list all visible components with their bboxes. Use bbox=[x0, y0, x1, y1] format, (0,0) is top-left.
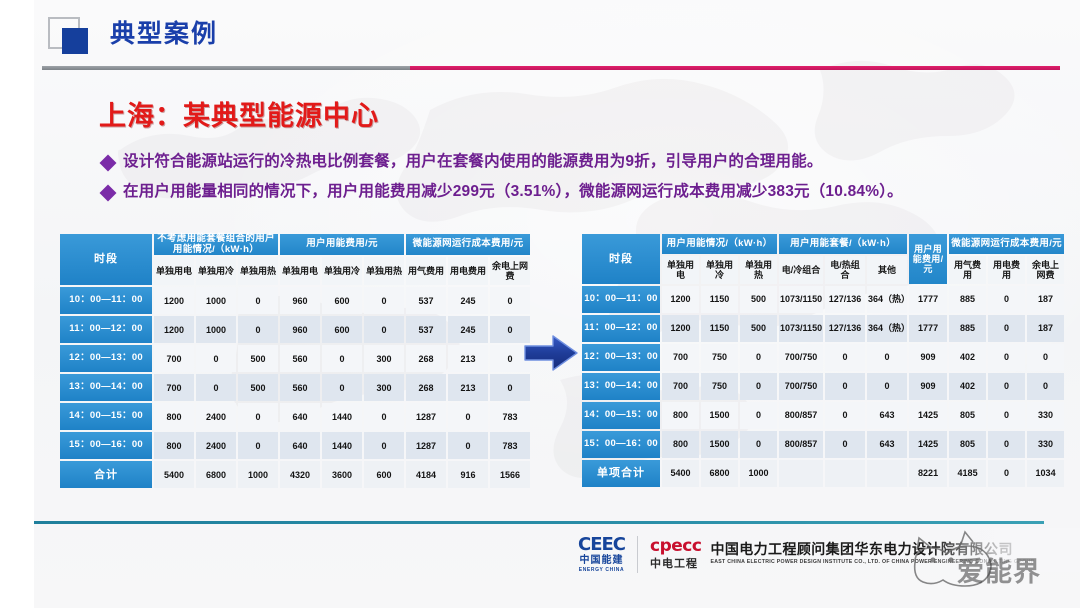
cell-value: 268 bbox=[406, 374, 446, 401]
cell-value: 1500 bbox=[701, 431, 738, 458]
cell-value: 0 bbox=[867, 344, 907, 371]
cell-value: 960 bbox=[280, 316, 320, 343]
table-header-row-group: 时段 用户用能情况/（kW·h） 用户用能套餐/（kW·h） 用户用能费用/元 … bbox=[582, 234, 1064, 254]
col-sub-6: 用气费用 bbox=[949, 256, 986, 284]
ceec-chinese-name: 中国能建 bbox=[580, 556, 624, 566]
cell-value: 0 bbox=[322, 345, 362, 372]
cell-value: 2400 bbox=[196, 432, 236, 459]
cell-value: 0 bbox=[988, 315, 1025, 342]
cell-period: 11：00—12：00 bbox=[582, 315, 660, 342]
table-row: 14：00—15：00800240006401440012870783 bbox=[60, 403, 530, 430]
cell-value: 1000 bbox=[196, 287, 236, 314]
cell-value: 245 bbox=[448, 316, 488, 343]
cell-value: 800 bbox=[154, 403, 194, 430]
cell-total-value: 6800 bbox=[701, 460, 738, 487]
section-subtitle: 上海：某典型能源中心 bbox=[99, 94, 379, 133]
cell-value: 1000 bbox=[196, 316, 236, 343]
header-rule-pink-segment bbox=[410, 66, 1060, 70]
cell-value: 0 bbox=[238, 316, 278, 343]
cell-total-value: 1566 bbox=[490, 461, 530, 488]
table-row: 11：00—12：00120011505001073/1150127/13636… bbox=[582, 315, 1064, 342]
cell-value: 0 bbox=[364, 432, 404, 459]
cell-period: 10：00—11：00 bbox=[582, 286, 660, 313]
col-group-package: 用户用能套餐/（kW·h） bbox=[779, 234, 907, 254]
cell-value: 909 bbox=[909, 373, 947, 400]
cell-value: 364（热） bbox=[867, 286, 907, 313]
slide-header: 典型案例 bbox=[44, 16, 218, 56]
cell-value: 0 bbox=[740, 373, 777, 400]
cell-value: 0 bbox=[448, 432, 488, 459]
cell-value: 885 bbox=[949, 286, 986, 313]
col-sub-3: 电/冷组合 bbox=[779, 256, 823, 284]
cell-value: 1200 bbox=[154, 287, 194, 314]
footer-logos: CEEC 中国能建 ENERGY CHINA cpecc 中电工程 中国电力工程… bbox=[578, 531, 1034, 577]
cell-value: 402 bbox=[949, 344, 986, 371]
bullet-list: 设计符合能源站运行的冷热电比例套餐，用户在套餐内使用的能源费用为9折，引导用户的… bbox=[102, 152, 1032, 212]
col-sub-1: 单独用冷 bbox=[196, 257, 236, 285]
cell-total-value: 8221 bbox=[909, 460, 947, 487]
col-group-network-cost: 微能源网运行成本费用/元 bbox=[949, 234, 1064, 254]
cell-value: 245 bbox=[448, 287, 488, 314]
col-sub-5: 单独用热 bbox=[364, 257, 404, 285]
cell-value: 805 bbox=[949, 402, 986, 429]
cell-value: 500 bbox=[238, 345, 278, 372]
cell-total-label: 合计 bbox=[60, 461, 152, 488]
cell-period: 11：00—12：00 bbox=[60, 316, 152, 343]
table-row: 13：00—14：00700050056003002682130 bbox=[60, 374, 530, 401]
cell-value: 750 bbox=[701, 373, 738, 400]
cell-value: 213 bbox=[448, 374, 488, 401]
cell-value: 700 bbox=[154, 345, 194, 372]
cell-total-value: 1000 bbox=[238, 461, 278, 488]
logo-solid-square bbox=[62, 28, 88, 54]
cell-value: 885 bbox=[949, 315, 986, 342]
cell-value: 0 bbox=[988, 431, 1025, 458]
cell-total-value: 1000 bbox=[740, 460, 777, 487]
cell-value: 187 bbox=[1027, 315, 1064, 342]
cell-value: 700/750 bbox=[779, 344, 823, 371]
cell-value: 0 bbox=[740, 431, 777, 458]
cell-value: 700/750 bbox=[779, 373, 823, 400]
cpecc-chinese-name: 中电工程 bbox=[650, 559, 701, 570]
col-group-user-fee: 用户用能费用/元 bbox=[909, 234, 947, 284]
cell-period: 14：00—15：00 bbox=[582, 402, 660, 429]
header-rule-gray-segment bbox=[42, 66, 410, 70]
ceec-logo: CEEC 中国能建 ENERGY CHINA bbox=[578, 536, 638, 573]
col-sub-0: 单独用电 bbox=[662, 256, 699, 284]
cell-period: 13：00—14：00 bbox=[582, 373, 660, 400]
table-row: 13：00—14：007007500700/7500090940200 bbox=[582, 373, 1064, 400]
table-row: 12：00—13：00700050056003002682130 bbox=[60, 345, 530, 372]
cell-value: 909 bbox=[909, 344, 947, 371]
cell-value: 0 bbox=[988, 402, 1025, 429]
cell-value: 537 bbox=[406, 316, 446, 343]
cell-value: 640 bbox=[280, 403, 320, 430]
bullet-item: 在用户用能量相同的情况下，用户用能费用减少299元（3.51%），微能源网运行成… bbox=[102, 182, 1032, 203]
col-sub-2: 单独用热 bbox=[238, 257, 278, 285]
table-right-body: 10：00—11：00120011505001073/1150127/13636… bbox=[582, 286, 1064, 487]
cpecc-acronym: cpecc bbox=[650, 538, 701, 555]
header-rule bbox=[42, 66, 1060, 70]
table-left-body: 10：00—11：001200100009606000537245011：00—… bbox=[60, 287, 530, 488]
cell-value: 0 bbox=[490, 287, 530, 314]
col-group-usage: 用户用能情况/（kW·h） bbox=[662, 234, 777, 254]
cell-value: 1200 bbox=[154, 316, 194, 343]
cell-value: 750 bbox=[701, 344, 738, 371]
cell-value: 0 bbox=[988, 286, 1025, 313]
cell-value: 600 bbox=[322, 316, 362, 343]
cell-value: 0 bbox=[490, 374, 530, 401]
cell-value: 300 bbox=[364, 374, 404, 401]
cell-value: 1073/1150 bbox=[779, 286, 823, 313]
cell-period: 15：00—16：00 bbox=[582, 431, 660, 458]
diamond-bullet-icon bbox=[100, 184, 117, 201]
cell-value: 700 bbox=[662, 373, 699, 400]
col-sub-8: 余电上网费 bbox=[1027, 256, 1064, 284]
cell-value: 1777 bbox=[909, 315, 947, 342]
cell-value: 500 bbox=[740, 286, 777, 313]
footer-divider bbox=[34, 521, 1044, 524]
cell-value: 800 bbox=[662, 431, 699, 458]
cell-value: 805 bbox=[949, 431, 986, 458]
cell-value: 560 bbox=[280, 345, 320, 372]
cell-value: 1777 bbox=[909, 286, 947, 313]
col-sub-2: 单独用热 bbox=[740, 256, 777, 284]
ceec-english-name: ENERGY CHINA bbox=[579, 568, 624, 573]
cell-value: 1425 bbox=[909, 402, 947, 429]
col-period: 时段 bbox=[582, 234, 660, 284]
cell-total-value: 4185 bbox=[949, 460, 986, 487]
cell-value: 700 bbox=[662, 344, 699, 371]
cell-value: 127/136 bbox=[825, 315, 865, 342]
right-arrow-icon bbox=[523, 334, 579, 372]
table-header-row-group: 时段 不考虑用能套餐组合的用户用能情况/（kW·h） 用户用能费用/元 微能源网… bbox=[60, 234, 530, 255]
cell-total-value: 6800 bbox=[196, 461, 236, 488]
col-sub-6: 用气费用 bbox=[406, 257, 446, 285]
cell-value: 0 bbox=[1027, 373, 1064, 400]
institute-name: 中国电力工程顾问集团华东电力设计院有限公司 EAST CHINA ELECTRI… bbox=[701, 542, 1034, 565]
cell-period: 15：00—16：00 bbox=[60, 432, 152, 459]
cell-value: 0 bbox=[364, 403, 404, 430]
col-sub-7: 用电费用 bbox=[448, 257, 488, 285]
col-sub-1: 单独用冷 bbox=[701, 256, 738, 284]
cell-value: 1200 bbox=[662, 315, 699, 342]
bullet-item: 设计符合能源站运行的冷热电比例套餐，用户在套餐内使用的能源费用为9折，引导用户的… bbox=[102, 152, 1032, 173]
cell-total-value: 1034 bbox=[1027, 460, 1064, 487]
cell-value: 0 bbox=[238, 432, 278, 459]
col-period: 时段 bbox=[60, 234, 152, 285]
cell-value: 0 bbox=[825, 402, 865, 429]
cell-total-value: 5400 bbox=[662, 460, 699, 487]
cell-value: 0 bbox=[196, 345, 236, 372]
square-logo-icon bbox=[44, 16, 96, 56]
cell-value: 1440 bbox=[322, 432, 362, 459]
cell-value: 0 bbox=[238, 403, 278, 430]
cell-value: 500 bbox=[740, 315, 777, 342]
cell-value: 600 bbox=[322, 287, 362, 314]
page-title: 典型案例 bbox=[110, 22, 218, 50]
col-sub-8: 余电上网费 bbox=[490, 257, 530, 285]
cell-value: 300 bbox=[364, 345, 404, 372]
cell-value: 643 bbox=[867, 431, 907, 458]
cell-value: 1150 bbox=[701, 286, 738, 313]
cell-value: 500 bbox=[238, 374, 278, 401]
cell-period: 12：00—13：00 bbox=[60, 345, 152, 372]
table-row: 15：00—16：00800240006401440012870783 bbox=[60, 432, 530, 459]
table-row: 15：00—16：0080015000800/85706431425805033… bbox=[582, 431, 1064, 458]
table-row: 12：00—13：007007500700/7500090940200 bbox=[582, 344, 1064, 371]
cell-value: 1425 bbox=[909, 431, 947, 458]
cell-value: 1150 bbox=[701, 315, 738, 342]
cell-value: 2400 bbox=[196, 403, 236, 430]
cell-value: 0 bbox=[867, 373, 907, 400]
cell-value: 0 bbox=[825, 373, 865, 400]
cell-value: 640 bbox=[280, 432, 320, 459]
cell-value: 0 bbox=[988, 344, 1025, 371]
cell-total-value: 5400 bbox=[154, 461, 194, 488]
cell-period: 10：00—11：00 bbox=[60, 287, 152, 314]
cell-value: 783 bbox=[490, 403, 530, 430]
col-sub-5: 其他 bbox=[867, 256, 907, 284]
cell-value: 960 bbox=[280, 287, 320, 314]
cell-value: 1287 bbox=[406, 403, 446, 430]
cell-value: 800 bbox=[154, 432, 194, 459]
left-white-strip bbox=[0, 0, 34, 608]
slide-canvas: 典型案例 上海：某典型能源中心 设计符合能源站运行的冷热电比例套餐，用户在套餐内… bbox=[0, 0, 1080, 608]
col-sub-0: 单独用电 bbox=[154, 257, 194, 285]
cell-value: 700 bbox=[154, 374, 194, 401]
cell-total-value: 4320 bbox=[280, 461, 320, 488]
cell-value: 800/857 bbox=[779, 431, 823, 458]
table-total-row: 单项合计5400680010008221418501034 bbox=[582, 460, 1064, 487]
diamond-bullet-icon bbox=[100, 155, 117, 172]
cell-value: 268 bbox=[406, 345, 446, 372]
cpecc-logo: cpecc 中电工程 bbox=[638, 538, 701, 570]
cell-value: 0 bbox=[364, 316, 404, 343]
cell-value: 127/136 bbox=[825, 286, 865, 313]
cell-value: 0 bbox=[196, 374, 236, 401]
cell-total-value bbox=[779, 460, 823, 487]
cell-value: 1287 bbox=[406, 432, 446, 459]
bullet-text: 在用户用能量相同的情况下，用户用能费用减少299元（3.51%），微能源网运行成… bbox=[123, 182, 903, 203]
cell-total-value: 3600 bbox=[322, 461, 362, 488]
col-group-user-fee: 用户用能费用/元 bbox=[280, 234, 404, 255]
col-sub-4: 电/热组合 bbox=[825, 256, 865, 284]
cell-value: 330 bbox=[1027, 402, 1064, 429]
cell-value: 0 bbox=[448, 403, 488, 430]
institute-chinese-name: 中国电力工程顾问集团华东电力设计院有限公司 bbox=[710, 542, 1034, 556]
cell-total-value: 0 bbox=[988, 460, 1025, 487]
cell-value: 800 bbox=[662, 402, 699, 429]
cell-period: 13：00—14：00 bbox=[60, 374, 152, 401]
cell-value: 0 bbox=[1027, 344, 1064, 371]
bullet-text: 设计符合能源站运行的冷热电比例套餐，用户在套餐内使用的能源费用为9折，引导用户的… bbox=[123, 152, 823, 173]
cell-value: 0 bbox=[740, 344, 777, 371]
cell-value: 1073/1150 bbox=[779, 315, 823, 342]
cell-total-value: 916 bbox=[448, 461, 488, 488]
table-row: 14：00—15：0080015000800/85706431425805033… bbox=[582, 402, 1064, 429]
cell-value: 560 bbox=[280, 374, 320, 401]
col-group-usage: 不考虑用能套餐组合的用户用能情况/（kW·h） bbox=[154, 234, 278, 255]
cell-value: 1440 bbox=[322, 403, 362, 430]
cell-value: 0 bbox=[238, 287, 278, 314]
col-group-network-cost: 微能源网运行成本费用/元 bbox=[406, 234, 530, 255]
table-row: 11：00—12：0012001000096060005372450 bbox=[60, 316, 530, 343]
cell-value: 0 bbox=[988, 373, 1025, 400]
cell-value: 402 bbox=[949, 373, 986, 400]
cell-period: 14：00—15：00 bbox=[60, 403, 152, 430]
cell-value: 1500 bbox=[701, 402, 738, 429]
cell-total-value: 600 bbox=[364, 461, 404, 488]
cell-value: 0 bbox=[364, 287, 404, 314]
cell-value: 800/857 bbox=[779, 402, 823, 429]
table-after-package: 时段 用户用能情况/（kW·h） 用户用能套餐/（kW·h） 用户用能费用/元 … bbox=[580, 232, 1066, 489]
cell-value: 643 bbox=[867, 402, 907, 429]
cell-value: 783 bbox=[490, 432, 530, 459]
col-sub-3: 单独用电 bbox=[280, 257, 320, 285]
cell-total-label: 单项合计 bbox=[582, 460, 660, 487]
col-sub-7: 用电费用 bbox=[988, 256, 1025, 284]
cell-value: 187 bbox=[1027, 286, 1064, 313]
cell-value: 537 bbox=[406, 287, 446, 314]
cell-value: 213 bbox=[448, 345, 488, 372]
table-row: 10：00—11：00120011505001073/1150127/13636… bbox=[582, 286, 1064, 313]
table-before-package: 时段 不考虑用能套餐组合的用户用能情况/（kW·h） 用户用能费用/元 微能源网… bbox=[58, 232, 532, 490]
cell-value: 0 bbox=[825, 344, 865, 371]
cell-value: 1200 bbox=[662, 286, 699, 313]
cell-value: 0 bbox=[740, 402, 777, 429]
cell-total-value: 4184 bbox=[406, 461, 446, 488]
cell-value: 364（热） bbox=[867, 315, 907, 342]
cell-total-value bbox=[825, 460, 865, 487]
cell-value: 0 bbox=[322, 374, 362, 401]
cell-total-value bbox=[867, 460, 907, 487]
cell-period: 12：00—13：00 bbox=[582, 344, 660, 371]
cell-value: 330 bbox=[1027, 431, 1064, 458]
institute-english-name: EAST CHINA ELECTRIC POWER DESIGN INSTITU… bbox=[710, 560, 1034, 565]
cell-value: 0 bbox=[825, 431, 865, 458]
ceec-acronym: CEEC bbox=[578, 536, 625, 554]
table-total-row: 合计5400680010004320360060041849161566 bbox=[60, 461, 530, 488]
table-row: 10：00—11：0012001000096060005372450 bbox=[60, 287, 530, 314]
col-sub-4: 单独用冷 bbox=[322, 257, 362, 285]
